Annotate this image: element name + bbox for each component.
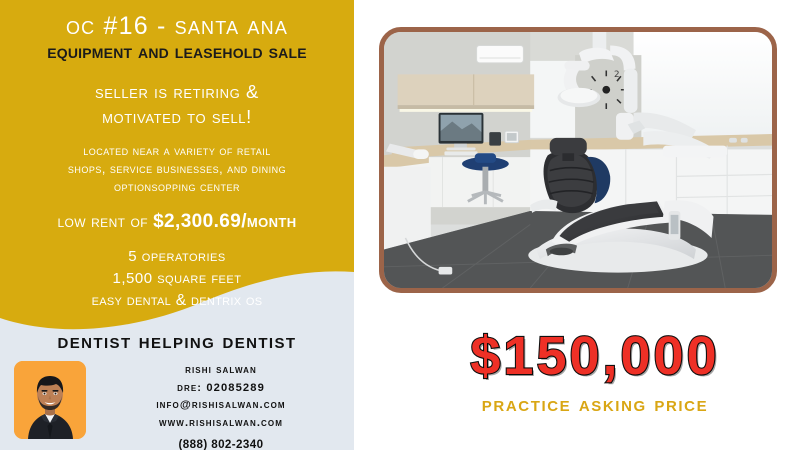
rent-line: Low rent of $2,300.69/month xyxy=(8,211,346,234)
location-description: Located near a variety of retail shops, … xyxy=(8,143,346,197)
asking-price-label: Practice Asking Price xyxy=(400,392,790,417)
headline-line-2: motivated to sell! xyxy=(8,105,346,129)
spec-list: 5 operatories 1,500 square feet Easy Den… xyxy=(8,246,346,312)
rent-prefix: Low rent of xyxy=(57,212,153,231)
location-line-1: Located near a variety of retail xyxy=(20,143,334,161)
broker-email[interactable]: info@rishisalwan.com xyxy=(96,397,346,415)
spec-software: Easy Dental & Dentrix OS xyxy=(8,290,346,312)
avatar xyxy=(14,361,86,439)
flyer-canvas: OC #16 - Santa Ana Equipment and Leaseho… xyxy=(0,0,800,450)
listing-subtitle: Equipment and Leasehold Sale xyxy=(8,41,346,63)
broker-name: Rishi Salwan xyxy=(96,362,346,380)
svg-text:2: 2 xyxy=(614,70,620,80)
location-line-2: shops, service businesses, and dining xyxy=(20,161,334,179)
broker-tagline: Dentist Helping Dentist xyxy=(0,330,354,354)
listing-details: OC #16 - Santa Ana Equipment and Leaseho… xyxy=(0,0,354,300)
headline-line-1: Seller is retiring & xyxy=(8,80,346,104)
listing-headline: Seller is retiring & motivated to sell! xyxy=(8,80,346,129)
spec-operatories: 5 operatories xyxy=(8,246,346,268)
broker-contact-info: Rishi Salwan DRE: 02085289 info@rishisal… xyxy=(96,362,346,450)
rent-amount: $2,300.69/month xyxy=(153,211,296,232)
asking-price: $150,000 xyxy=(400,329,790,383)
broker-headshot-photo xyxy=(14,361,86,439)
broker-phone[interactable]: (888) 802-2340 xyxy=(96,436,346,450)
location-line-3: optionsopping Center xyxy=(20,179,334,197)
operatory-photo: 2 xyxy=(379,27,777,293)
spec-square-feet: 1,500 square feet xyxy=(8,268,346,290)
dental-operatory-photo: 2 xyxy=(384,32,772,288)
page-title: OC #16 - Santa Ana xyxy=(8,13,346,39)
broker-website[interactable]: www.rishisalwan.com xyxy=(96,415,346,433)
broker-dre: DRE: 02085289 xyxy=(96,380,346,398)
